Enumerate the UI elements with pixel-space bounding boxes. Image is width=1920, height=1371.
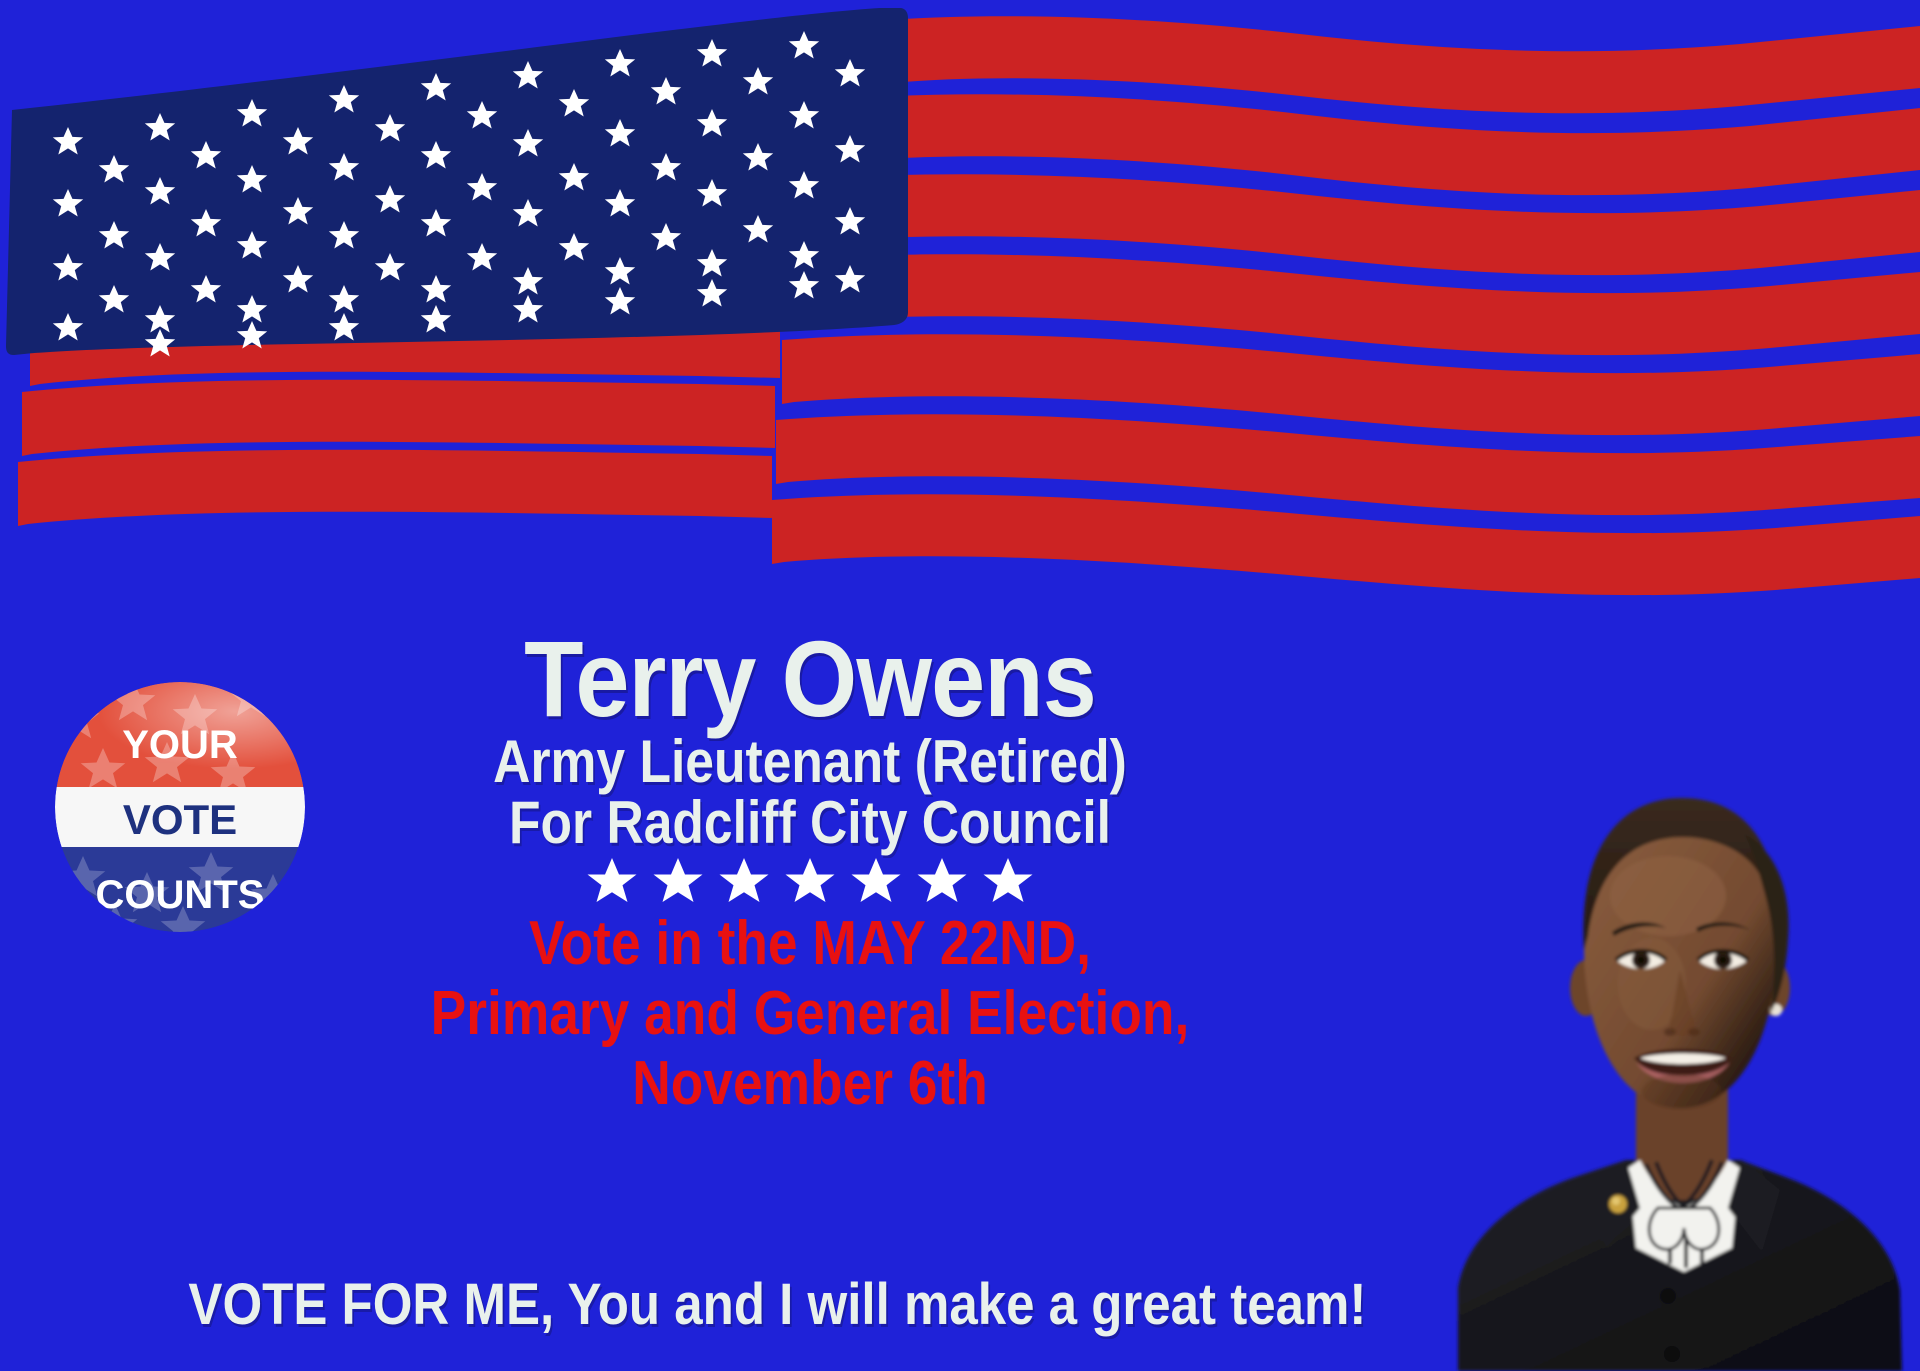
flag-canton bbox=[6, 8, 908, 355]
flag-graphic bbox=[0, 0, 1920, 612]
jacket-button bbox=[1660, 1288, 1676, 1304]
badge-line3: COUNTS bbox=[96, 873, 265, 917]
star-icon bbox=[784, 857, 836, 907]
star-icon bbox=[586, 857, 638, 907]
election-line-2: Primary and General Election, bbox=[397, 979, 1223, 1049]
star-divider bbox=[330, 857, 1290, 907]
campaign-slogan: VOTE FOR ME, You and I will make a great… bbox=[188, 1276, 1191, 1334]
star-icon bbox=[982, 857, 1034, 907]
badge-graphic: YOUR VOTE COUNTS bbox=[55, 682, 305, 932]
badge-line1: YOUR bbox=[122, 723, 238, 767]
election-line-3: November 6th bbox=[397, 1049, 1223, 1119]
your-vote-counts-badge: YOUR VOTE COUNTS bbox=[55, 682, 305, 932]
election-line-1: Vote in the MAY 22ND, bbox=[397, 909, 1223, 979]
candidate-subtitle-rank: Army Lieutenant (Retired) bbox=[397, 731, 1223, 792]
american-flag bbox=[0, 0, 1920, 612]
portrait-graphic bbox=[1440, 648, 1920, 1371]
candidate-portrait bbox=[1440, 648, 1920, 1371]
candidate-text-block: Terry Owens Army Lieutenant (Retired) Fo… bbox=[330, 628, 1290, 1119]
star-icon bbox=[916, 857, 968, 907]
jacket-button bbox=[1664, 1346, 1680, 1362]
candidate-subtitle-office: For Radcliff City Council bbox=[397, 792, 1223, 853]
campaign-poster: YOUR VOTE COUNTS Terry Owens Army Lieute… bbox=[0, 0, 1920, 1371]
star-icon bbox=[718, 857, 770, 907]
star-icon bbox=[850, 857, 902, 907]
badge-line2: VOTE bbox=[123, 796, 237, 843]
star-icon bbox=[652, 857, 704, 907]
candidate-name: Terry Owens bbox=[378, 628, 1242, 731]
